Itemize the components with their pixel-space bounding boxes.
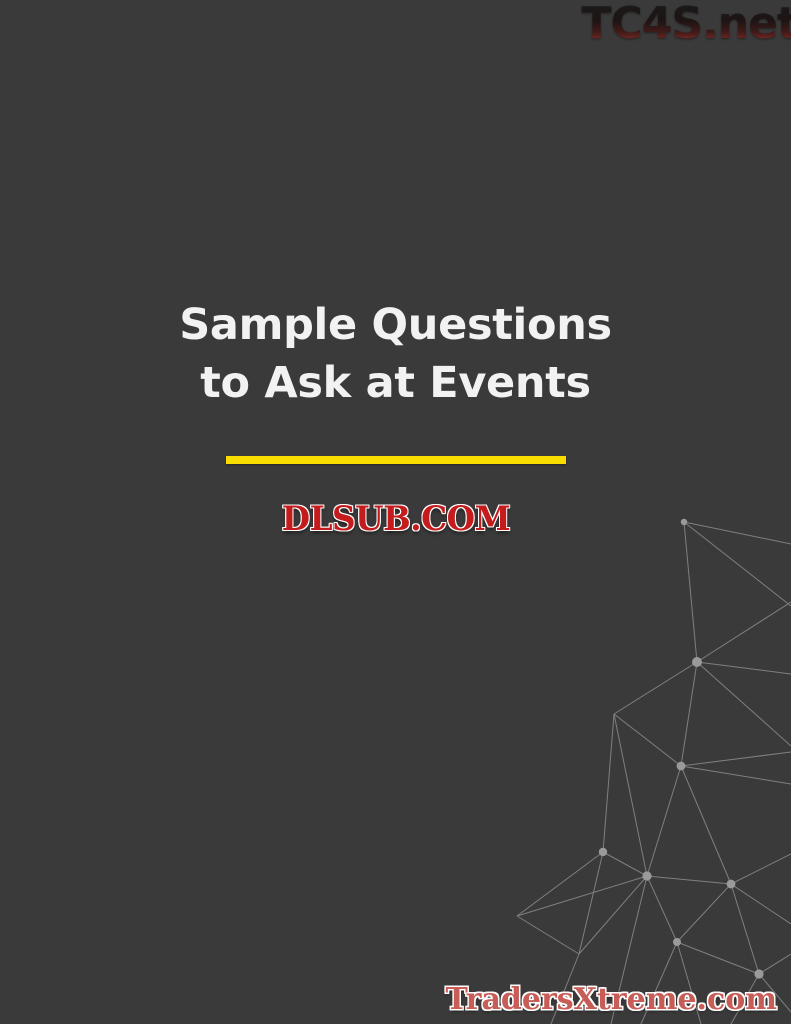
cover-content: Sample Questions to Ask at Events DLSUB.… bbox=[0, 296, 791, 536]
watermark-center: DLSUB.COM bbox=[281, 502, 509, 536]
page-title-line-2: to Ask at Events bbox=[0, 354, 791, 412]
page-title: Sample Questions to Ask at Events bbox=[0, 296, 791, 412]
title-divider bbox=[226, 456, 566, 464]
watermark-top-right: TC4S.net bbox=[581, 2, 791, 46]
polygon-network-graphic bbox=[491, 484, 791, 1024]
watermark-bottom-right: TradersXtreme.com bbox=[446, 982, 777, 1018]
cover-page: TC4S.net Sample Questions to Ask at Even… bbox=[0, 0, 791, 1024]
page-title-line-1: Sample Questions bbox=[0, 296, 791, 354]
